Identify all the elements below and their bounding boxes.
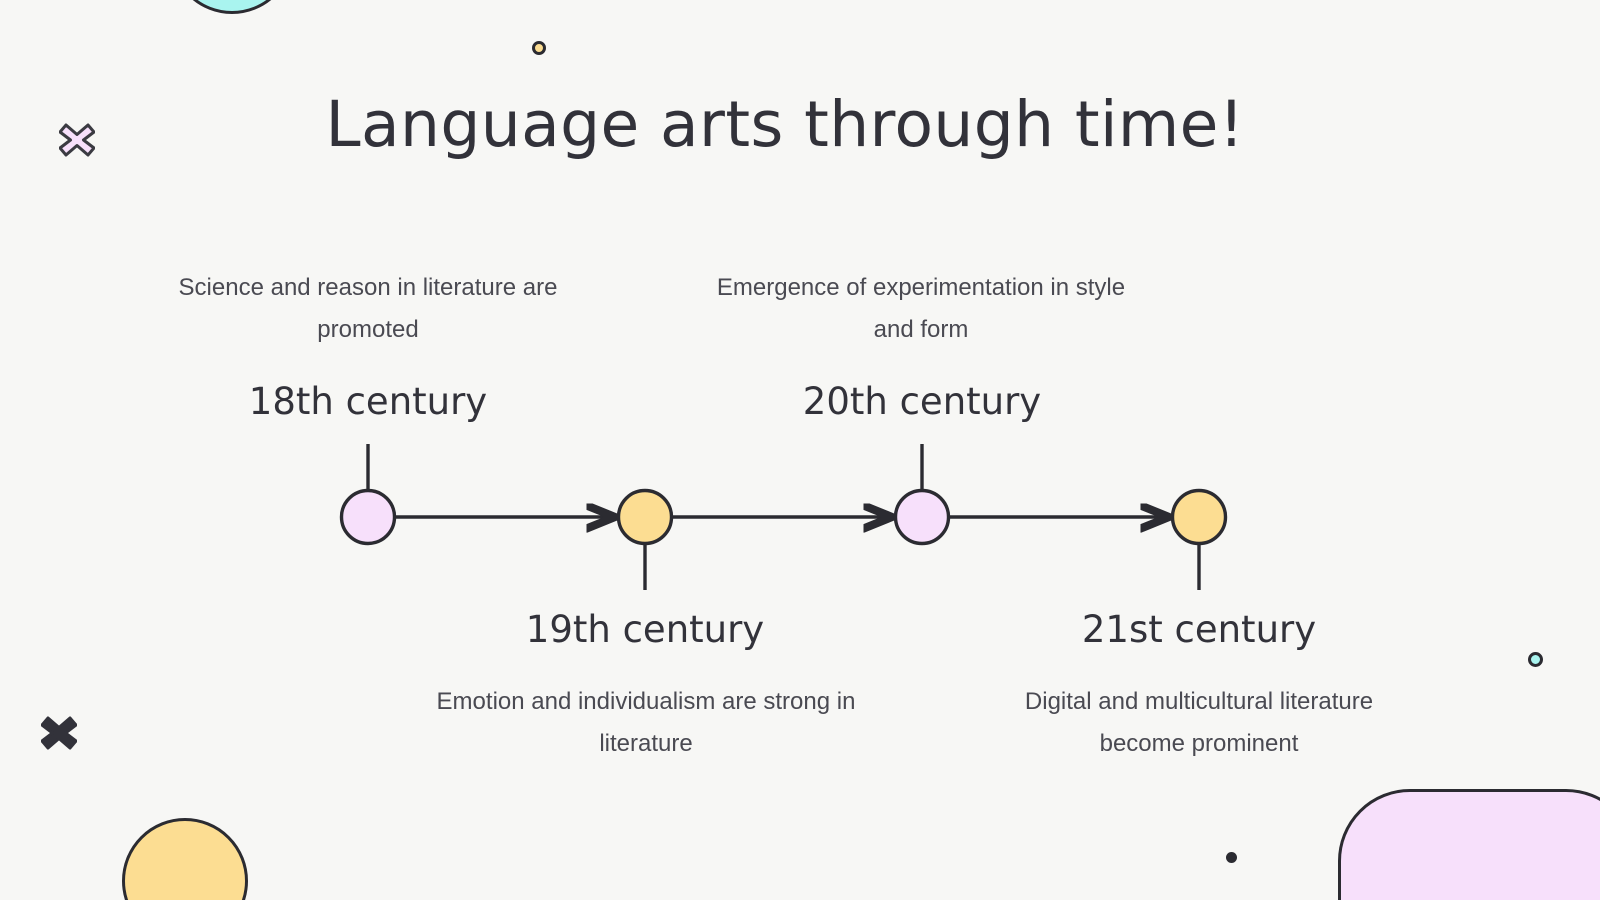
timeline-era-label-2: 20th century [722,380,1122,423]
timeline-description-2: Emergence of experimentation in style an… [701,267,1141,351]
timeline-node-3 [1173,491,1226,544]
timeline-node-2 [896,491,949,544]
timeline-graphic [0,0,1600,900]
timeline-node-0 [342,491,395,544]
timeline-era-label-3: 21st century [999,608,1399,651]
timeline-era-label-1: 19th century [445,608,845,651]
slide-canvas: Language arts through time! 18th century… [0,0,1600,900]
timeline-node-1 [619,491,672,544]
timeline-era-label-0: 18th century [168,380,568,423]
timeline-description-1: Emotion and individualism are strong in … [426,681,866,765]
timeline-description-0: Science and reason in literature are pro… [148,267,588,351]
timeline-description-3: Digital and multicultural literature bec… [979,681,1419,765]
